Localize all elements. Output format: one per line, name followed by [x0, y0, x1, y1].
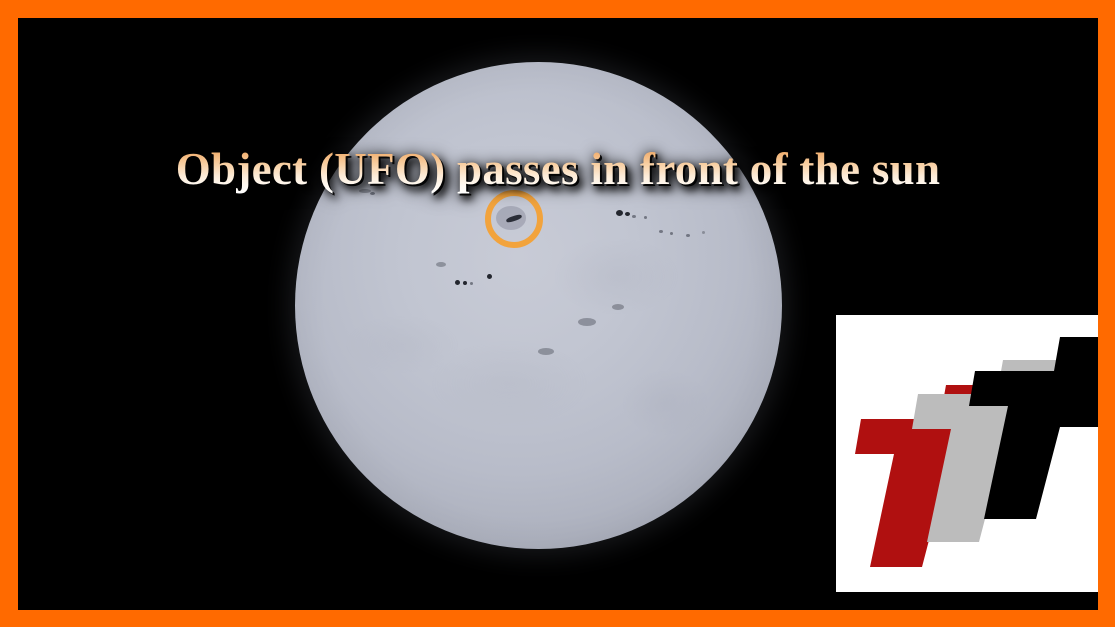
sun-granulation	[295, 62, 782, 549]
video-thumbnail-frame: Object (UFO) passes in front of the sun	[0, 0, 1115, 627]
photo-stage: Object (UFO) passes in front of the sun	[18, 18, 1098, 610]
channel-logo-mark	[836, 315, 1098, 592]
sun-disc	[295, 62, 782, 549]
sun-limb-darkening	[295, 62, 782, 549]
page-title: Object (UFO) passes in front of the sun	[18, 144, 1098, 194]
channel-logo[interactable]	[836, 315, 1098, 592]
ufo-highlight-circle	[485, 190, 543, 248]
